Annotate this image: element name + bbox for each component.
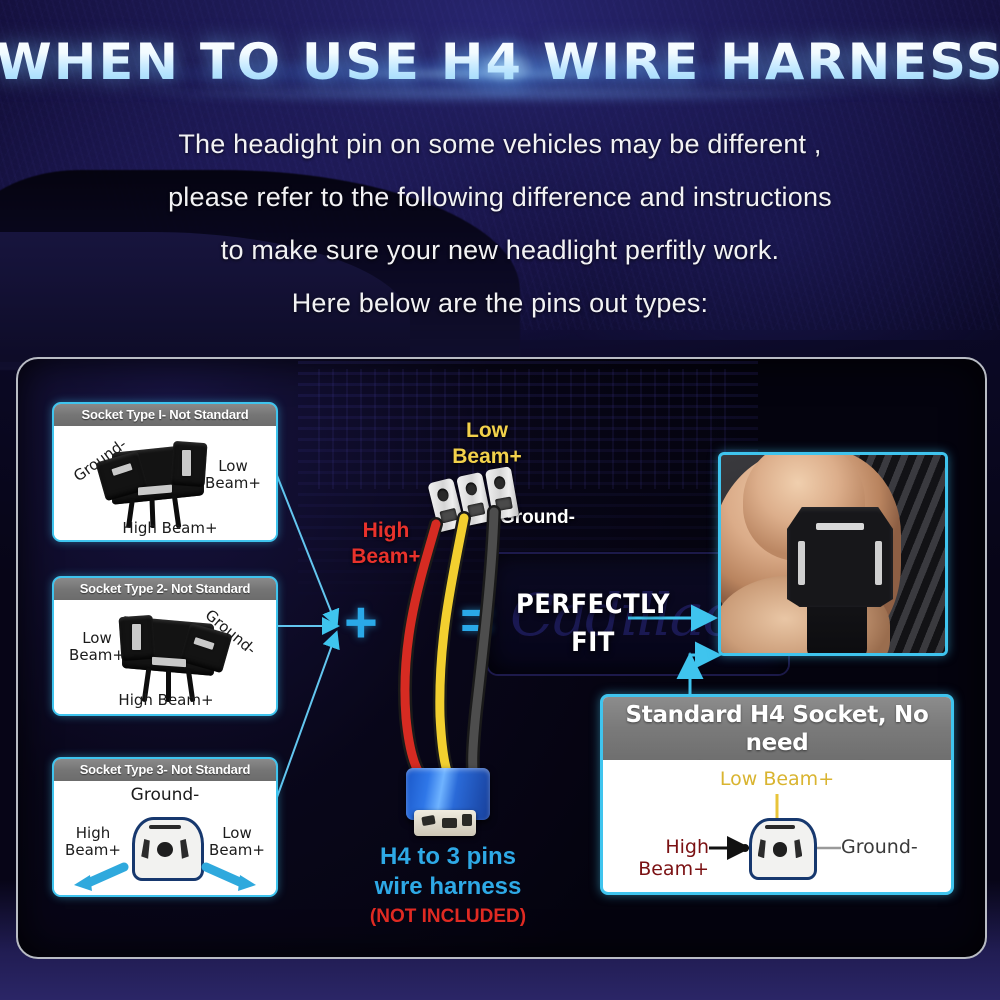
socket-type-1-body: Ground- Low Beam+ High Beam+ — [54, 426, 276, 540]
socket-type-1-label-low-beam: Low Beam+ — [200, 458, 266, 492]
socket-type-3-arrows — [54, 781, 276, 895]
infographic-root: WHEN TO USE H4 WIRE HARNESS The headight… — [0, 0, 1000, 1000]
info-box-label-ground: Ground- — [841, 836, 945, 858]
intro-line-3: to make sure your new headlight perfitly… — [50, 224, 950, 277]
harness-caption: H4 to 3 pins wire harness (NOT INCLUDED) — [348, 842, 548, 932]
harness-label-high-beam: High Beam+ — [338, 518, 434, 570]
socket-type-3-body: Ground- High Beam+ Low Beam+ — [54, 781, 276, 895]
info-box-body: Low Beam+ High Beam+ Ground- — [603, 760, 951, 886]
plug-blade-top — [816, 523, 865, 530]
equals-symbol: = — [460, 592, 493, 648]
harness-caption-note: (NOT INCLUDED) — [348, 902, 548, 932]
harness-h4-connector — [406, 768, 490, 838]
harness-label-low-beam: Low Beam+ — [432, 418, 542, 470]
h4-plug-photo — [718, 452, 948, 656]
page-title: WHEN TO USE H4 WIRE HARNESS — [0, 33, 1000, 91]
socket-type-1-box: Socket Type I- Not Standard Ground- Low … — [52, 402, 278, 542]
socket-type-3-header: Socket Type 3- Not Standard — [54, 759, 276, 781]
intro-line-1: The headight pin on some vehicles may be… — [50, 118, 950, 171]
plus-symbol: + — [344, 594, 378, 652]
perfectly-fit-label: PERFECTLY FIT — [498, 586, 688, 662]
info-box-header-line1: Standard H4 Socket, No need — [611, 701, 943, 757]
intro-line-2: please refer to the following difference… — [50, 171, 950, 224]
socket-type-2-label-low-beam: Low Beam+ — [64, 630, 130, 664]
plug-blade-left — [798, 541, 805, 585]
socket-type-2-body: Low Beam+ Ground- High Beam+ — [54, 600, 276, 714]
info-box-label-high-beam: High Beam+ — [611, 836, 709, 880]
socket-type-3-box: Socket Type 3- Not Standard Ground- High… — [52, 757, 278, 897]
intro-line-4: Here below are the pins out types: — [50, 277, 950, 330]
socket-type-2-box: Socket Type 2- Not Standard Low Beam+ Gr… — [52, 576, 278, 716]
intro-paragraph: The headight pin on some vehicles may be… — [50, 118, 950, 330]
info-box-h4-glyph — [749, 818, 811, 874]
info-box-header: Standard H4 Socket, No need H4 adapter, … — [603, 697, 951, 760]
harness-caption-line1: H4 to 3 pins — [348, 842, 548, 872]
plug-blade-right — [875, 541, 882, 585]
socket-type-1-label-high-beam: High Beam+ — [110, 520, 230, 537]
socket-type-1-header: Socket Type I- Not Standard — [54, 404, 276, 426]
photo-h4-plug — [787, 507, 893, 607]
socket-type-2-header: Socket Type 2- Not Standard — [54, 578, 276, 600]
standard-h4-info-box: Standard H4 Socket, No need H4 adapter, … — [600, 694, 954, 895]
socket-type-2-label-high-beam: High Beam+ — [106, 692, 226, 709]
harness-caption-line2: wire harness — [348, 872, 548, 902]
